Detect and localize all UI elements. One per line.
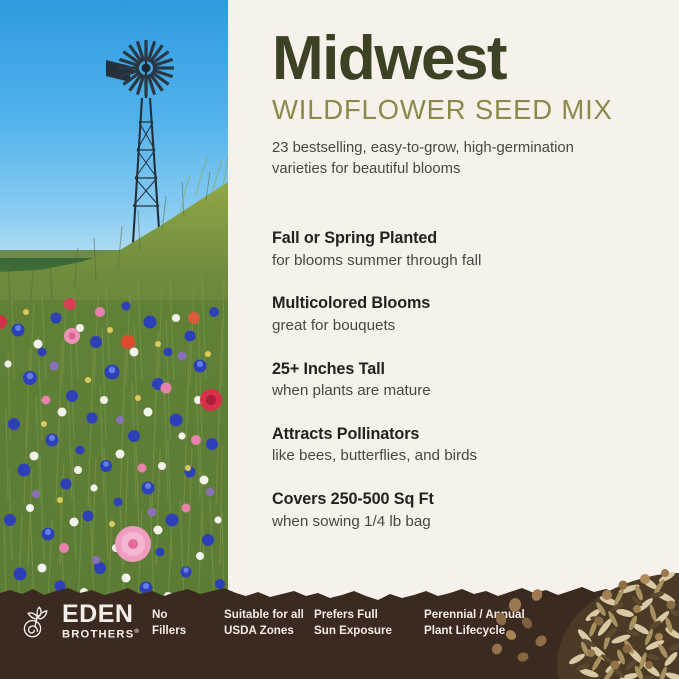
callout-line1: No [152, 608, 167, 621]
feature-subtitle: great for bouquets [272, 316, 672, 337]
logo-brothers-text: BROTHERS® [62, 629, 140, 641]
feature-subtitle: like bees, butterflies, and birds [272, 446, 672, 467]
callout-no-fillers: No Fillers [152, 607, 224, 640]
feature-title: Attracts Pollinators [272, 424, 672, 445]
list-item: Multicolored Blooms great for bouquets [272, 293, 672, 336]
product-poster: Midwest WILDFLOWER SEED MIX 23 bestselli… [0, 0, 679, 679]
callout-line1: Prefers Full [314, 608, 378, 621]
sprout-seedling-icon [19, 603, 55, 639]
logo-eden-text: EDEN [62, 602, 140, 627]
callout-line2: Fillers [152, 623, 224, 639]
callout-usda-zones: Suitable for all USDA Zones [224, 607, 314, 640]
page-title: Midwest [272, 28, 672, 90]
product-info-panel: Midwest WILDFLOWER SEED MIX 23 bestselli… [228, 0, 679, 679]
list-item: Fall or Spring Planted for blooms summer… [272, 228, 672, 271]
feature-title: Covers 250-500 Sq Ft [272, 489, 672, 510]
title-block: Midwest WILDFLOWER SEED MIX 23 bestselli… [272, 28, 672, 180]
logo-wordmark: EDEN BROTHERS® [62, 602, 140, 641]
feature-list: Fall or Spring Planted for blooms summer… [272, 228, 672, 532]
feature-title: Multicolored Blooms [272, 293, 672, 314]
callout-line2: Sun Exposure [314, 623, 424, 639]
feature-subtitle: when plants are mature [272, 381, 672, 402]
product-description: 23 bestselling, easy-to-grow, high-germi… [272, 138, 632, 180]
feature-title: 25+ Inches Tall [272, 359, 672, 380]
eden-brothers-logo[interactable]: EDEN BROTHERS® [19, 602, 140, 641]
feature-title: Fall or Spring Planted [272, 228, 672, 249]
callout-sun-exposure: Prefers Full Sun Exposure [314, 607, 424, 640]
list-item: Covers 250-500 Sq Ft when sowing 1/4 lb … [272, 489, 672, 532]
callout-line1: Perennial / Annual [424, 608, 525, 621]
footer-callouts: No Fillers Suitable for all USDA Zones P… [152, 607, 544, 640]
list-item: Attracts Pollinators like bees, butterfl… [272, 424, 672, 467]
callout-plant-lifecycle: Perennial / Annual Plant Lifecycle [424, 607, 544, 640]
feature-subtitle: when sowing 1/4 lb bag [272, 512, 672, 533]
footer-band: EDEN BROTHERS® No Fillers Suitable for a… [0, 579, 679, 679]
registered-trademark-icon: ® [134, 629, 140, 635]
list-item: 25+ Inches Tall when plants are mature [272, 359, 672, 402]
feature-subtitle: for blooms summer through fall [272, 251, 672, 272]
callout-line1: Suitable for all [224, 608, 304, 621]
product-subtitle: WILDFLOWER SEED MIX [272, 96, 672, 125]
callout-line2: Plant Lifecycle [424, 623, 544, 639]
footer-content: EDEN BROTHERS® No Fillers Suitable for a… [0, 579, 679, 679]
callout-line2: USDA Zones [224, 623, 314, 639]
wildflower-meadow-photo [0, 0, 228, 679]
